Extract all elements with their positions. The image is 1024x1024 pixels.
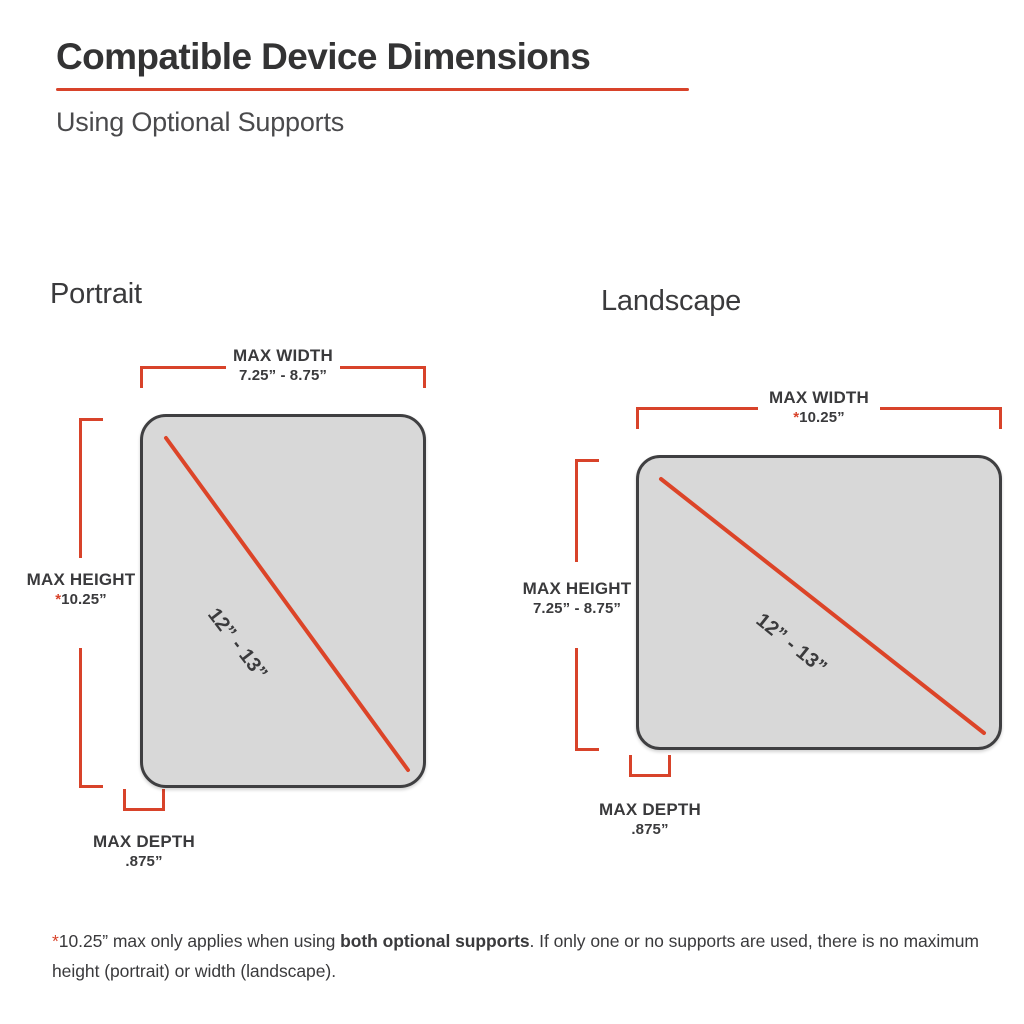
section-heading-portrait: Portrait [50, 278, 142, 311]
bracket-bar-top [79, 418, 82, 558]
bracket-tick-left [636, 407, 639, 429]
bracket-bar-bottom [123, 808, 165, 811]
landscape-max-depth-label: MAX DEPTH .875” [550, 800, 750, 840]
bracket-tick-bottom [575, 748, 599, 751]
dim-title: MAX DEPTH [44, 832, 244, 852]
footnote-lead: 10.25” max only applies when using [59, 931, 340, 951]
portrait-max-width-label: MAX WIDTH 7.25” - 8.75” [183, 346, 383, 386]
bracket-tick-top [79, 418, 103, 421]
page-subtitle: Using Optional Supports [56, 106, 966, 138]
bracket-tick-top [575, 459, 599, 462]
dim-value: .875” [44, 853, 244, 872]
dim-title: MAX DEPTH [550, 800, 750, 820]
dim-title: MAX HEIGHT [18, 570, 144, 590]
dim-value: 7.25” - 8.75” [500, 600, 654, 619]
dim-value: *10.25” [18, 591, 144, 610]
footnote: *10.25” max only applies when using both… [52, 926, 982, 986]
bracket-tick-left [629, 755, 632, 777]
portrait-max-depth-label: MAX DEPTH .875” [44, 832, 244, 872]
landscape-max-height-label: MAX HEIGHT 7.25” - 8.75” [500, 579, 654, 619]
title-accent-rule [56, 88, 689, 91]
infographic-canvas: Compatible Device Dimensions Using Optio… [0, 0, 1024, 1024]
bracket-tick-right [668, 755, 671, 777]
bracket-bar-bottom [575, 648, 578, 751]
bracket-tick-right [423, 366, 426, 388]
dim-value: .875” [550, 821, 750, 840]
landscape-diagonal-svg [636, 455, 1008, 756]
diagonal-measure-line [661, 479, 984, 733]
bracket-tick-left [123, 789, 126, 811]
section-heading-landscape: Landscape [601, 285, 741, 318]
dim-value-text: 10.25” [799, 409, 845, 426]
dim-value: *10.25” [719, 409, 919, 428]
dim-value-text: 7.25” - 8.75” [239, 367, 327, 384]
portrait-device-shape: 12” - 13” [140, 414, 426, 788]
landscape-max-width-label: MAX WIDTH *10.25” [719, 388, 919, 428]
dim-value: 7.25” - 8.75” [183, 367, 383, 386]
bracket-tick-bottom [79, 785, 103, 788]
portrait-diagonal-svg [140, 414, 432, 794]
portrait-max-height-label: MAX HEIGHT *10.25” [18, 570, 144, 610]
dim-value-text: .875” [631, 821, 668, 838]
bracket-bar-bottom [629, 774, 671, 777]
landscape-device-shape: 12” - 13” [636, 455, 1002, 750]
bracket-tick-right [999, 407, 1002, 429]
dim-value-text: 7.25” - 8.75” [533, 600, 621, 617]
landscape-max-depth-bracket [629, 755, 671, 777]
footnote-asterisk: * [52, 931, 59, 951]
diagonal-measure-line [166, 438, 408, 770]
dim-value-text: 10.25” [61, 591, 107, 608]
dim-title: MAX WIDTH [719, 388, 919, 408]
page-title: Compatible Device Dimensions [56, 36, 966, 77]
bracket-bar-bottom [79, 648, 82, 788]
footnote-bold: both optional supports [340, 931, 529, 951]
dim-title: MAX WIDTH [183, 346, 383, 366]
dim-title: MAX HEIGHT [500, 579, 654, 599]
bracket-bar-top [575, 459, 578, 562]
header: Compatible Device Dimensions Using Optio… [56, 36, 966, 139]
bracket-tick-left [140, 366, 143, 388]
dim-value-text: .875” [125, 853, 162, 870]
